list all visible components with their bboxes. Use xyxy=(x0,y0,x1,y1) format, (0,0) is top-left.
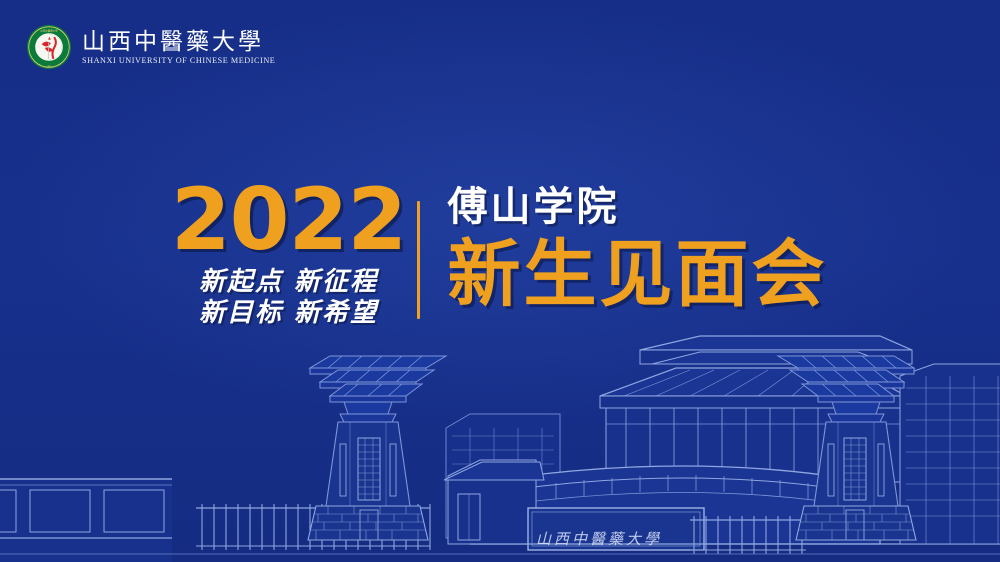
fence-left xyxy=(196,504,430,550)
title-divider xyxy=(417,201,420,319)
gate-pillar-left xyxy=(308,356,446,540)
main-title-block: 2022 新起点 新征程 新目标 新希望 傅山学院 新生见面会 xyxy=(0,178,1000,327)
gate-sign-text: 山西中醫藥大學 xyxy=(536,528,662,549)
campus-gate-illustration xyxy=(0,332,1000,562)
fence-right xyxy=(690,516,806,554)
slogan-group: 新起点 新征程 新目标 新希望 xyxy=(199,268,378,327)
event-headline: 新生见面会 xyxy=(448,238,828,311)
perimeter-wall-left xyxy=(0,479,172,562)
event-year: 2022 xyxy=(171,184,406,258)
slogan-line-2: 新目标 新希望 xyxy=(199,299,378,327)
university-logo-lockup: 山西中醫藥大學 1982 山西中醫藥大學 SHANXI UNIVERSITY O… xyxy=(26,24,275,70)
background-building-left xyxy=(446,414,560,538)
svg-text:山西中醫藥大學: 山西中醫藥大學 xyxy=(40,28,58,32)
college-name: 傅山学院 xyxy=(448,186,828,228)
main-building xyxy=(444,336,1000,550)
perimeter-wall-right xyxy=(880,470,1000,544)
university-name-en: SHANXI UNIVERSITY OF CHINESE MEDICINE xyxy=(82,57,275,65)
gate-pillar-right xyxy=(778,356,916,540)
svg-text:1982: 1982 xyxy=(47,66,53,68)
poster-canvas: 山西中醫藥大學 1982 山西中醫藥大學 SHANXI UNIVERSITY O… xyxy=(0,0,1000,562)
title-right-column: 傅山学院 新生见面会 xyxy=(448,178,828,311)
title-left-column: 2022 新起点 新征程 新目标 新希望 xyxy=(173,178,405,327)
slogan-line-1: 新起点 新征程 xyxy=(199,268,378,296)
university-emblem-icon: 山西中醫藥大學 1982 xyxy=(26,24,72,70)
university-name-cn: 山西中醫藥大學 xyxy=(82,31,275,54)
university-name-group: 山西中醫藥大學 SHANXI UNIVERSITY OF CHINESE MED… xyxy=(82,29,275,65)
